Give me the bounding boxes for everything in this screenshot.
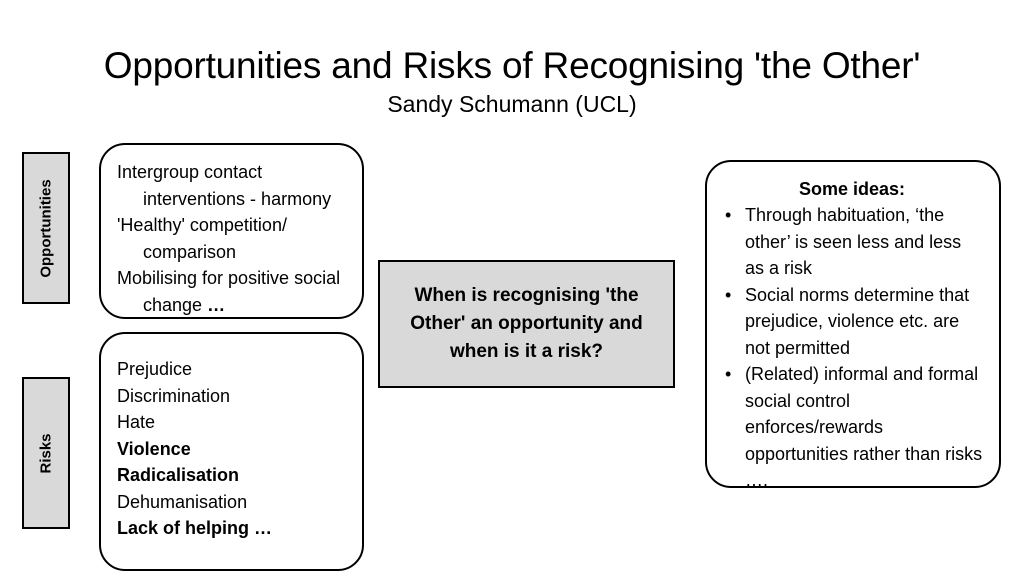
list-item: Dehumanisation [117, 489, 348, 516]
category-label-risks-text: Risks [39, 433, 54, 473]
category-label-opportunities-text: Opportunities [39, 179, 54, 277]
list-item-text: Social norms determine that prejudice, v… [745, 285, 969, 358]
risks-callout-box: Prejudice Discrimination Hate Violence R… [99, 332, 364, 571]
list-item: Mobilising for positive social change … [117, 265, 348, 318]
some-ideas-heading: Some ideas: [721, 176, 983, 202]
category-label-opportunities: Opportunities [22, 152, 70, 304]
list-item: Lack of helping … [117, 515, 348, 542]
slide-canvas: Opportunities and Risks of Recognising '… [0, 0, 1024, 576]
page-title: Opportunities and Risks of Recognising '… [0, 44, 1024, 88]
list-item-tail: … [207, 295, 225, 315]
list-item-text: Mobilising for positive social change [117, 268, 340, 315]
title-block: Opportunities and Risks of Recognising '… [0, 44, 1024, 119]
list-item: 'Healthy' competition/ comparison [117, 212, 348, 265]
list-item: Intergroup contact interventions - harmo… [117, 159, 348, 212]
list-item-text: (Related) informal and formal social con… [745, 364, 982, 490]
risks-list: Prejudice Discrimination Hate Violence R… [117, 356, 348, 542]
bullet-icon: • [725, 361, 731, 388]
bullet-icon: • [725, 202, 731, 229]
central-question-box: When is recognising 'the Other' an oppor… [378, 260, 675, 388]
some-ideas-callout-box: Some ideas: •Through habituation, ‘the o… [705, 160, 1001, 488]
list-item: Violence [117, 436, 348, 463]
list-item: •(Related) informal and formal social co… [721, 361, 983, 494]
list-item: Hate [117, 409, 348, 436]
list-item: Radicalisation [117, 462, 348, 489]
some-ideas-list: •Through habituation, ‘the other’ is see… [721, 202, 983, 494]
opportunities-list: Intergroup contact interventions - harmo… [117, 159, 348, 318]
list-item: Prejudice [117, 356, 348, 383]
list-item: Discrimination [117, 383, 348, 410]
opportunities-callout-box: Intergroup contact interventions - harmo… [99, 143, 364, 319]
list-item: •Social norms determine that prejudice, … [721, 282, 983, 362]
list-item-text: Intergroup contact interventions - harmo… [117, 162, 331, 209]
list-item-text: 'Healthy' competition/ comparison [117, 215, 287, 262]
bullet-icon: • [725, 282, 731, 309]
central-question-text: When is recognising 'the Other' an oppor… [394, 282, 659, 366]
category-label-risks: Risks [22, 377, 70, 529]
page-subtitle: Sandy Schumann (UCL) [0, 90, 1024, 119]
list-item-text: Through habituation, ‘the other’ is seen… [745, 205, 961, 278]
list-item: •Through habituation, ‘the other’ is see… [721, 202, 983, 282]
